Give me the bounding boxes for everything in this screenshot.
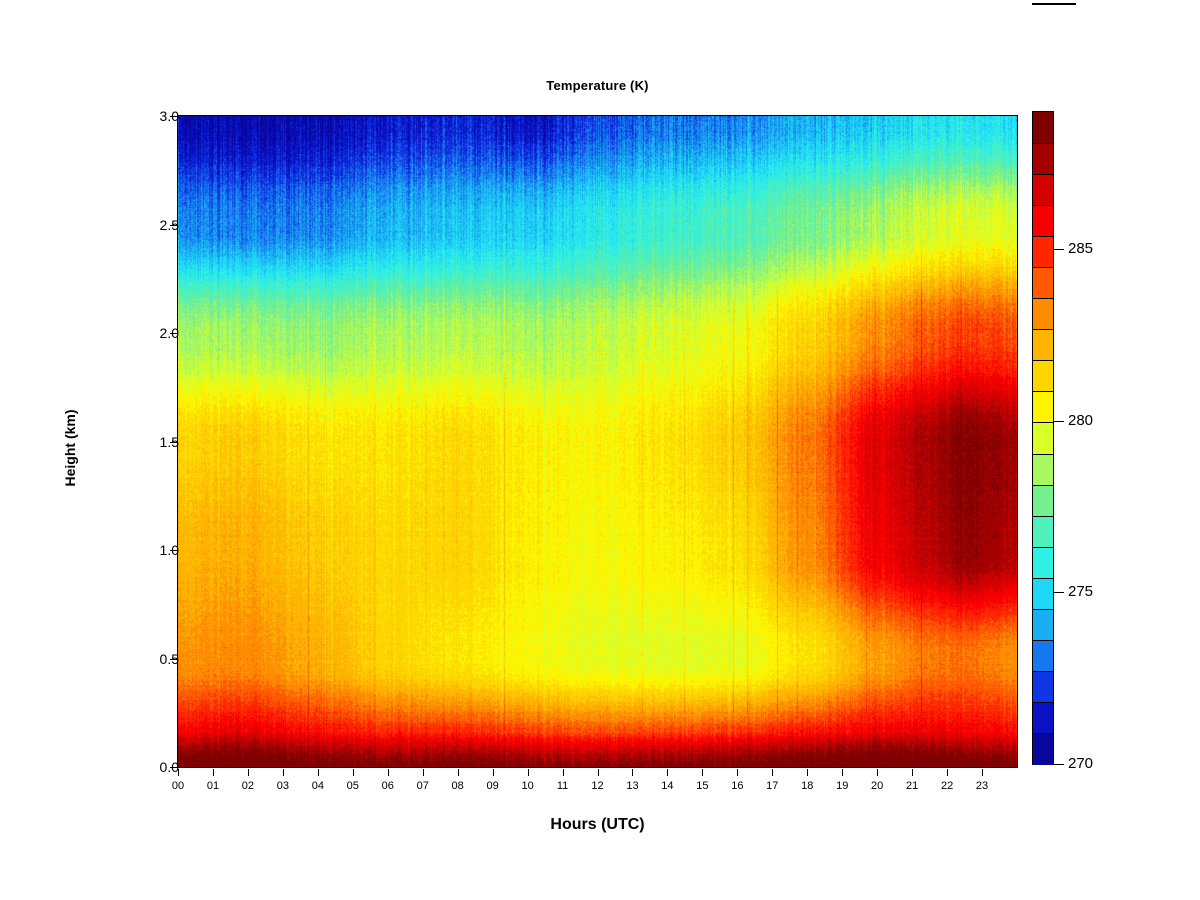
x-axis-tick-mark <box>598 769 599 776</box>
colorbar-band <box>1033 640 1053 672</box>
colorbar-band <box>1033 205 1053 237</box>
chart-canvas: Temperature (K) Height (km) Hours (UTC) … <box>0 0 1200 900</box>
x-axis-label: Hours (UTC) <box>177 816 1018 834</box>
y-axis-tick-mark <box>170 659 177 660</box>
x-axis-tick-mark <box>528 769 529 776</box>
y-axis-tick-mark <box>170 550 177 551</box>
colorbar-tick-mark <box>1054 592 1064 593</box>
top-right-rule-artifact <box>1032 3 1076 5</box>
x-axis-tick-mark <box>632 769 633 776</box>
y-axis-tick-mark <box>170 225 177 226</box>
colorbar-band <box>1033 547 1053 579</box>
colorbar-band <box>1033 143 1053 175</box>
x-axis-tick-mark <box>283 769 284 776</box>
x-axis-tick-mark <box>178 769 179 776</box>
x-axis-tick-mark <box>842 769 843 776</box>
colorbar-band <box>1033 422 1053 454</box>
y-axis-tick-mark <box>170 442 177 443</box>
x-axis-tick-mark <box>912 769 913 776</box>
colorbar-band <box>1033 454 1053 486</box>
x-axis-tick-mark <box>388 769 389 776</box>
colorbar-tick-mark <box>1054 249 1064 250</box>
colorbar-band <box>1033 267 1053 299</box>
colorbar-band <box>1033 485 1053 517</box>
y-axis-label: Height (km) <box>62 348 78 548</box>
x-axis-tick-mark <box>667 769 668 776</box>
colorbar <box>1032 111 1054 765</box>
colorbar-tick-label: 285 <box>1068 240 1093 257</box>
x-axis-tick-mark <box>737 769 738 776</box>
colorbar-tick-label: 280 <box>1068 412 1093 429</box>
x-axis-tick-mark <box>877 769 878 776</box>
colorbar-tick-label: 275 <box>1068 583 1093 600</box>
x-axis-tick-mark <box>423 769 424 776</box>
y-axis-tick-mark <box>170 116 177 117</box>
x-axis-tick-mark <box>353 769 354 776</box>
x-axis-tick-mark <box>772 769 773 776</box>
colorbar-tick-mark <box>1054 764 1064 765</box>
colorbar-tick-label: 270 <box>1068 755 1093 772</box>
x-axis-tick-mark <box>702 769 703 776</box>
heatmap-plot-area <box>177 115 1018 768</box>
colorbar-band <box>1033 702 1053 734</box>
colorbar-band <box>1033 609 1053 641</box>
colorbar-band <box>1033 516 1053 548</box>
colorbar-tick-mark <box>1054 421 1064 422</box>
colorbar-band <box>1033 360 1053 392</box>
y-axis-tick-mark <box>170 767 177 768</box>
colorbar-band <box>1033 329 1053 361</box>
x-axis-tick-mark <box>563 769 564 776</box>
x-axis-tick-mark <box>318 769 319 776</box>
colorbar-band <box>1033 112 1053 144</box>
heatmap-raster <box>178 116 1017 767</box>
colorbar-band <box>1033 391 1053 423</box>
x-axis-tick-mark <box>248 769 249 776</box>
x-axis-tick-mark <box>807 769 808 776</box>
heatmap-image <box>178 116 1017 767</box>
page-title: Temperature (K) <box>177 78 1018 93</box>
x-axis-tick-mark <box>493 769 494 776</box>
colorbar-band <box>1033 298 1053 330</box>
colorbar-band <box>1033 174 1053 206</box>
colorbar-band <box>1033 236 1053 268</box>
x-axis-tick-label: 23 <box>962 780 1002 792</box>
y-axis-tick-mark <box>170 333 177 334</box>
x-axis-tick-mark <box>947 769 948 776</box>
colorbar-band <box>1033 733 1053 765</box>
x-axis-tick-mark <box>982 769 983 776</box>
colorbar-band <box>1033 578 1053 610</box>
x-axis-tick-mark <box>213 769 214 776</box>
colorbar-band <box>1033 671 1053 703</box>
x-axis-tick-mark <box>458 769 459 776</box>
